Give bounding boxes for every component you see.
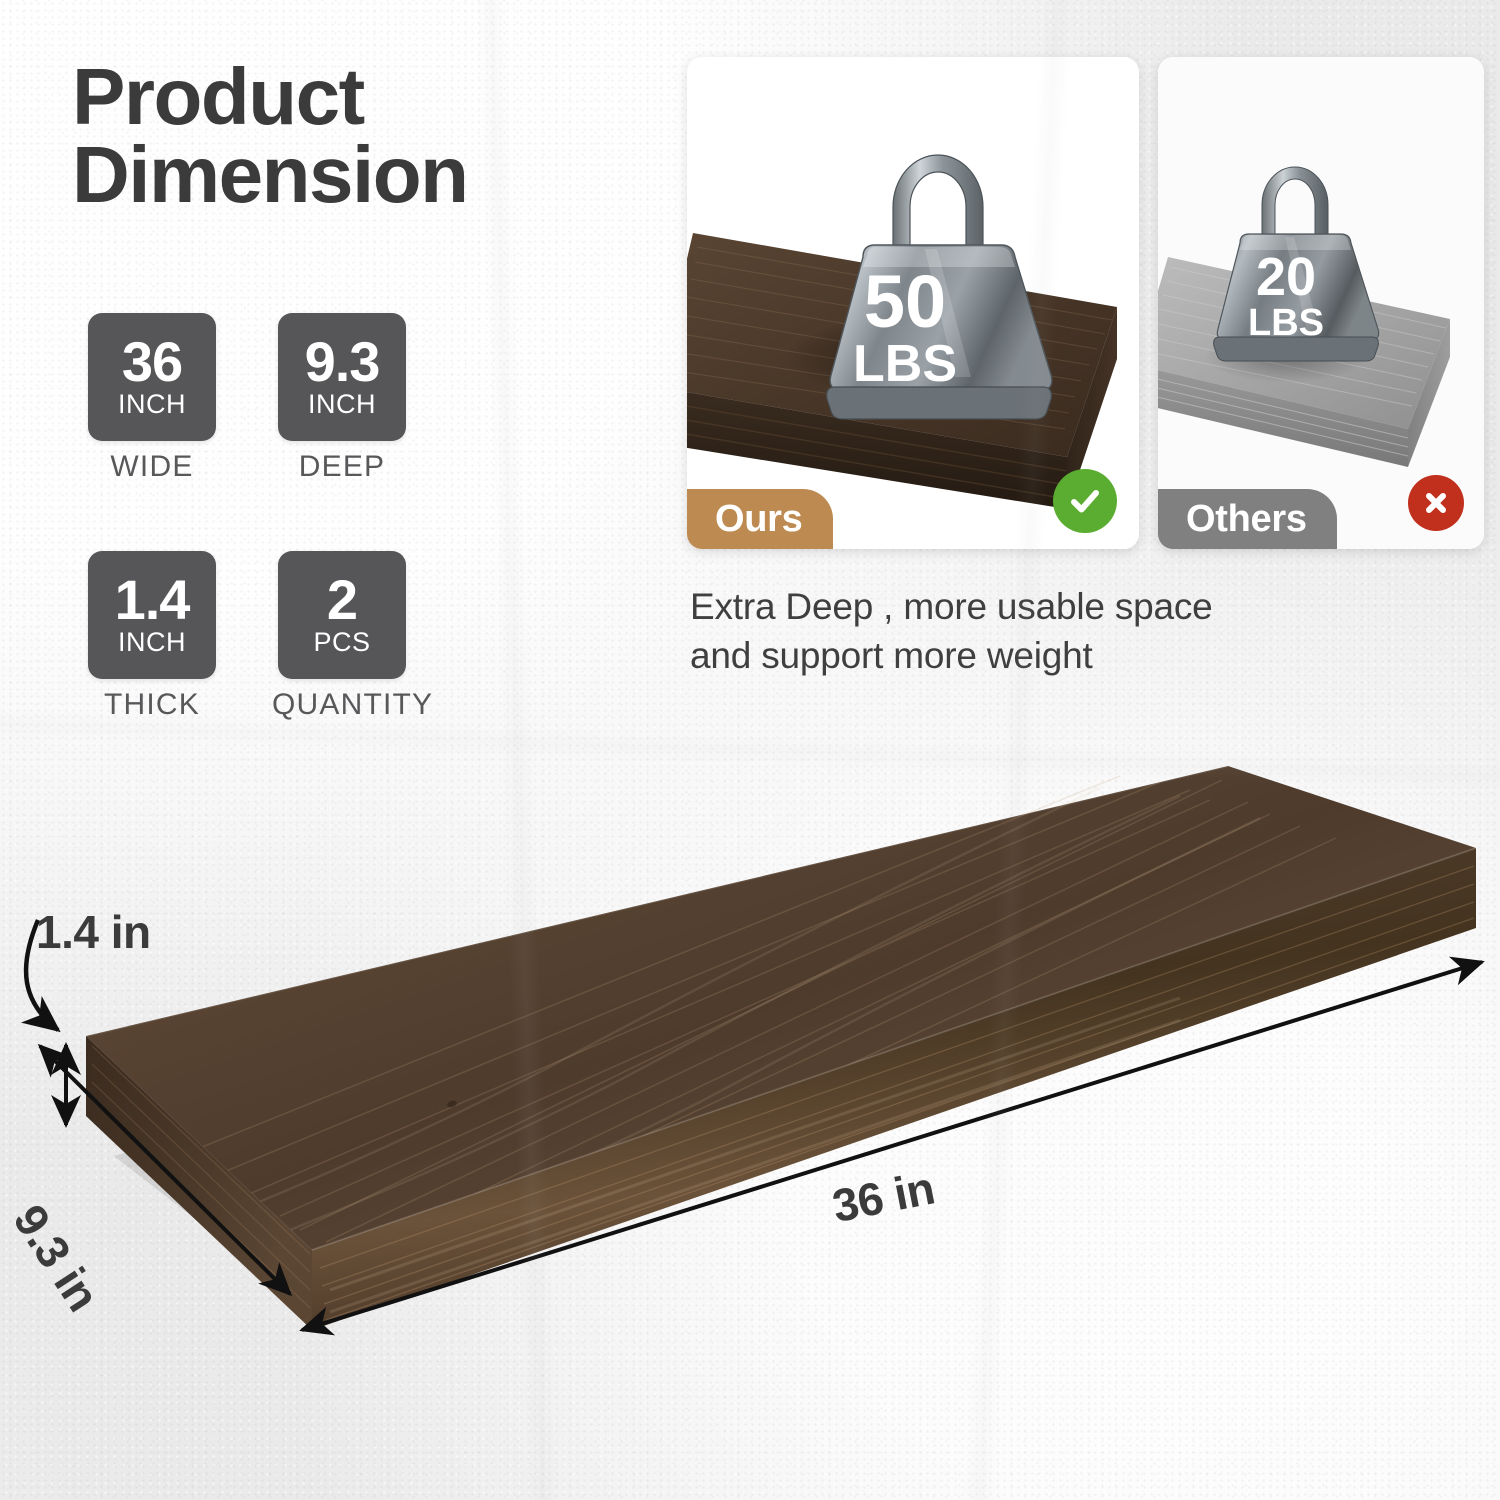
spec-caption: QUANTITY bbox=[272, 688, 412, 722]
spec-value: 1.4 bbox=[115, 574, 190, 626]
shelf-top-face bbox=[86, 766, 1476, 1250]
ours-label-badge: Ours bbox=[687, 489, 833, 549]
title-line-1: Product bbox=[72, 52, 364, 141]
comparison-caption-line-2: and support more weight bbox=[690, 631, 1330, 680]
spec-caption: WIDE bbox=[82, 450, 222, 484]
comparison-card-others: 20 LBS Others bbox=[1158, 57, 1484, 549]
comparison-card-ours: 50 LBS Ours bbox=[687, 57, 1139, 549]
spec-value: 2 bbox=[327, 574, 357, 626]
cross-icon bbox=[1408, 475, 1464, 531]
spec-tile: 9.3 INCH bbox=[278, 313, 406, 441]
page-title: Product Dimension bbox=[72, 58, 672, 215]
infographic-canvas: Product Dimension 36 INCH WIDE 9.3 INCH … bbox=[0, 0, 1500, 1500]
others-label-text: Others bbox=[1186, 498, 1307, 541]
spec-badge-deep: 9.3 INCH DEEP bbox=[272, 313, 412, 484]
spec-badge-quantity: 2 PCS QUANTITY bbox=[272, 551, 412, 722]
others-label-badge: Others bbox=[1158, 489, 1337, 549]
spec-unit: INCH bbox=[118, 628, 186, 656]
check-icon bbox=[1053, 469, 1117, 533]
spec-badge-wide: 36 INCH WIDE bbox=[82, 313, 222, 484]
others-weight-value: 20 bbox=[1256, 247, 1316, 307]
spec-unit: PCS bbox=[313, 628, 370, 656]
title-line-2: Dimension bbox=[72, 136, 672, 214]
spec-value: 36 bbox=[122, 336, 182, 388]
ours-weight-value: 50 bbox=[864, 260, 946, 343]
others-weight-unit: LBS bbox=[1248, 302, 1324, 344]
spec-badge-thick: 1.4 INCH THICK bbox=[82, 551, 222, 722]
thickness-label: 1.4 in bbox=[36, 905, 151, 959]
comparison-caption-line-1: Extra Deep , more usable space bbox=[690, 582, 1330, 631]
spec-caption: DEEP bbox=[272, 450, 412, 484]
spec-value: 9.3 bbox=[305, 336, 380, 388]
spec-tile: 36 INCH bbox=[88, 313, 216, 441]
spec-tile: 2 PCS bbox=[278, 551, 406, 679]
spec-unit: INCH bbox=[118, 390, 186, 418]
spec-tile: 1.4 INCH bbox=[88, 551, 216, 679]
spec-unit: INCH bbox=[308, 390, 376, 418]
ours-label-text: Ours bbox=[715, 498, 803, 541]
hero-shelf-illustration bbox=[0, 730, 1500, 1430]
spec-caption: THICK bbox=[82, 688, 222, 722]
comparison-caption: Extra Deep , more usable space and suppo… bbox=[690, 582, 1330, 680]
ours-weight-unit: LBS bbox=[853, 335, 957, 393]
